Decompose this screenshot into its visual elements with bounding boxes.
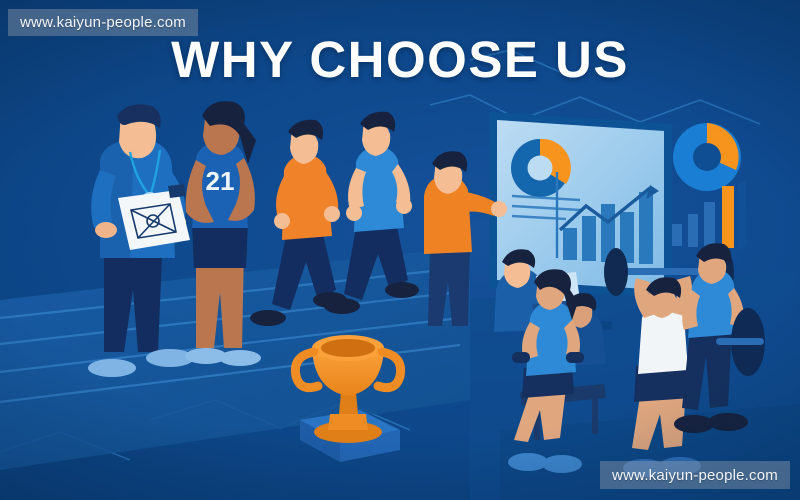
- watermark-bottom-right: www.kaiyun-people.com: [600, 461, 790, 489]
- page-title: WHY CHOOSE US: [0, 34, 800, 85]
- poster-canvas: 21: [0, 0, 800, 500]
- svg-text:21: 21: [206, 166, 235, 196]
- watermark-top-left: www.kaiyun-people.com: [8, 9, 198, 36]
- right-panel-donut-chart: [673, 123, 741, 191]
